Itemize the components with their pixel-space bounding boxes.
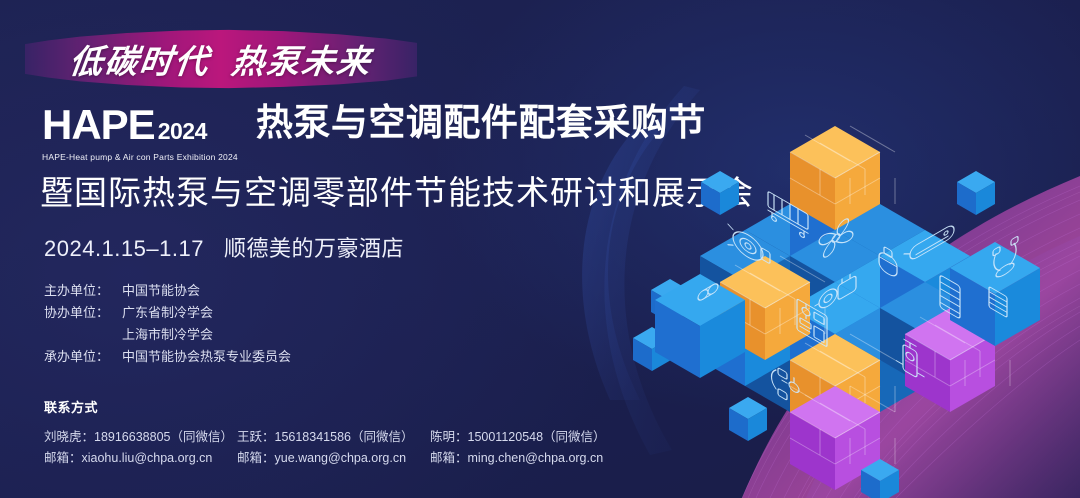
poster-canvas: 低碳时代 热泵未来 HAPE 2024 HAPE-Heat pump & Air… <box>0 0 1080 498</box>
contact-email-row: 邮箱：xiaohu.liu@chpa.org.cn 邮箱：yue.wang@ch… <box>44 448 606 469</box>
contact-phone: 王跃：15618341586（同微信） <box>237 427 430 448</box>
organizer-row: 承办单位： 中国节能协会热泵专业委员会 <box>44 346 291 368</box>
brand-block: HAPE 2024 HAPE-Heat pump & Air con Parts… <box>42 104 248 162</box>
event-date: 2024.1.15–1.17 <box>44 236 204 261</box>
organizer-value: 中国节能协会 <box>122 280 200 302</box>
organizer-list: 主办单位： 中国节能协会 协办单位： 广东省制冷学会 协办单位： 上海市制冷学会… <box>44 280 291 368</box>
page-subtitle: 暨国际热泵与空调零部件节能技术研讨和展示会 <box>40 166 754 214</box>
organizer-value: 上海市制冷学会 <box>122 324 213 346</box>
small-cube-bottom-left <box>729 397 767 441</box>
contact-email[interactable]: 邮箱：yue.wang@chpa.org.cn <box>237 448 430 469</box>
small-cube-upper-left <box>701 171 739 215</box>
brand-row: HAPE 2024 <box>42 104 238 146</box>
headline: HAPE 2024 HAPE-Heat pump & Air con Parts… <box>42 104 706 162</box>
brand-year: 2024 <box>158 120 207 143</box>
contact-heading: 联系方式 <box>44 397 606 416</box>
page-title: 热泵与空调配件配套采购节 <box>256 104 706 141</box>
contact-email[interactable]: 邮箱：ming.chen@chpa.org.cn <box>430 448 603 469</box>
date-venue-line: 2024.1.15–1.17顺德美的万豪酒店 <box>44 231 404 263</box>
organizer-row: 主办单位： 中国节能协会 <box>44 280 291 302</box>
contact-phone: 刘晓虎：18916638805（同微信） <box>44 427 237 448</box>
contact-phone: 陈明：15001120548（同微信） <box>430 427 606 448</box>
calligraphy-banner: 低碳时代 热泵未来 <box>25 28 417 90</box>
brand-english-subtitle: HAPE-Heat pump & Air con Parts Exhibitio… <box>42 152 238 162</box>
banner-phrase-1: 低碳时代 <box>67 35 213 83</box>
isometric-cube-artwork <box>660 110 1060 450</box>
small-cube-upper-right <box>957 171 995 215</box>
organizer-value: 中国节能协会热泵专业委员会 <box>122 346 291 368</box>
contact-email[interactable]: 邮箱：xiaohu.liu@chpa.org.cn <box>44 448 237 469</box>
organizer-label: 承办单位： <box>44 346 122 368</box>
banner-text: 低碳时代 热泵未来 <box>21 28 421 90</box>
contact-phone-row: 刘晓虎：18916638805（同微信） 王跃：15618341586（同微信）… <box>44 427 606 448</box>
event-venue: 顺德美的万豪酒店 <box>224 236 404 261</box>
organizer-value: 广东省制冷学会 <box>122 302 213 324</box>
organizer-row: 协办单位： 上海市制冷学会 <box>44 324 291 346</box>
organizer-label: 主办单位： <box>44 280 122 302</box>
contact-block: 联系方式 刘晓虎：18916638805（同微信） 王跃：15618341586… <box>44 397 606 469</box>
organizer-row: 协办单位： 广东省制冷学会 <box>44 302 291 324</box>
organizer-label: 协办单位： <box>44 302 122 324</box>
banner-phrase-2: 热泵未来 <box>229 35 375 83</box>
brand-name: HAPE <box>42 104 155 146</box>
